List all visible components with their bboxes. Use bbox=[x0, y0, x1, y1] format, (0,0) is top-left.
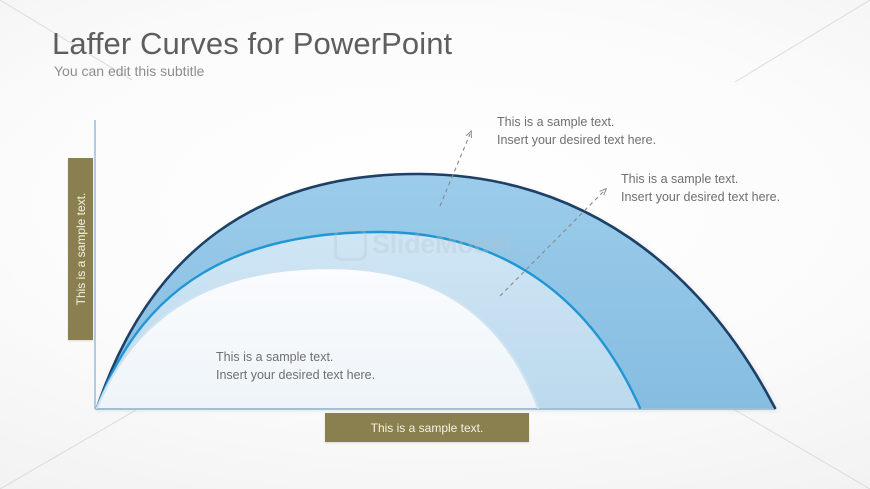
callout-right-line2: Insert your desired text here. bbox=[621, 188, 780, 206]
x-axis-label-bar[interactable]: This is a sample text. bbox=[325, 413, 529, 442]
callout-right[interactable]: This is a sample text. Insert your desir… bbox=[621, 170, 780, 206]
callout-inner-line2: Insert your desired text here. bbox=[216, 366, 375, 384]
callout-top-line2: Insert your desired text here. bbox=[497, 131, 656, 149]
callout-right-line1: This is a sample text. bbox=[621, 172, 738, 186]
callout-inner-line1: This is a sample text. bbox=[216, 350, 333, 364]
callout-top[interactable]: This is a sample text. Insert your desir… bbox=[497, 113, 656, 149]
slide-canvas: Laffer Curves for PowerPoint You can edi… bbox=[0, 0, 870, 489]
callout-inner[interactable]: This is a sample text. Insert your desir… bbox=[216, 348, 375, 384]
y-axis-label-text: This is a sample text. bbox=[74, 193, 88, 306]
callout-top-line1: This is a sample text. bbox=[497, 115, 614, 129]
y-axis-label-bar[interactable]: This is a sample text. bbox=[68, 158, 93, 340]
x-axis-label-text: This is a sample text. bbox=[371, 421, 484, 435]
